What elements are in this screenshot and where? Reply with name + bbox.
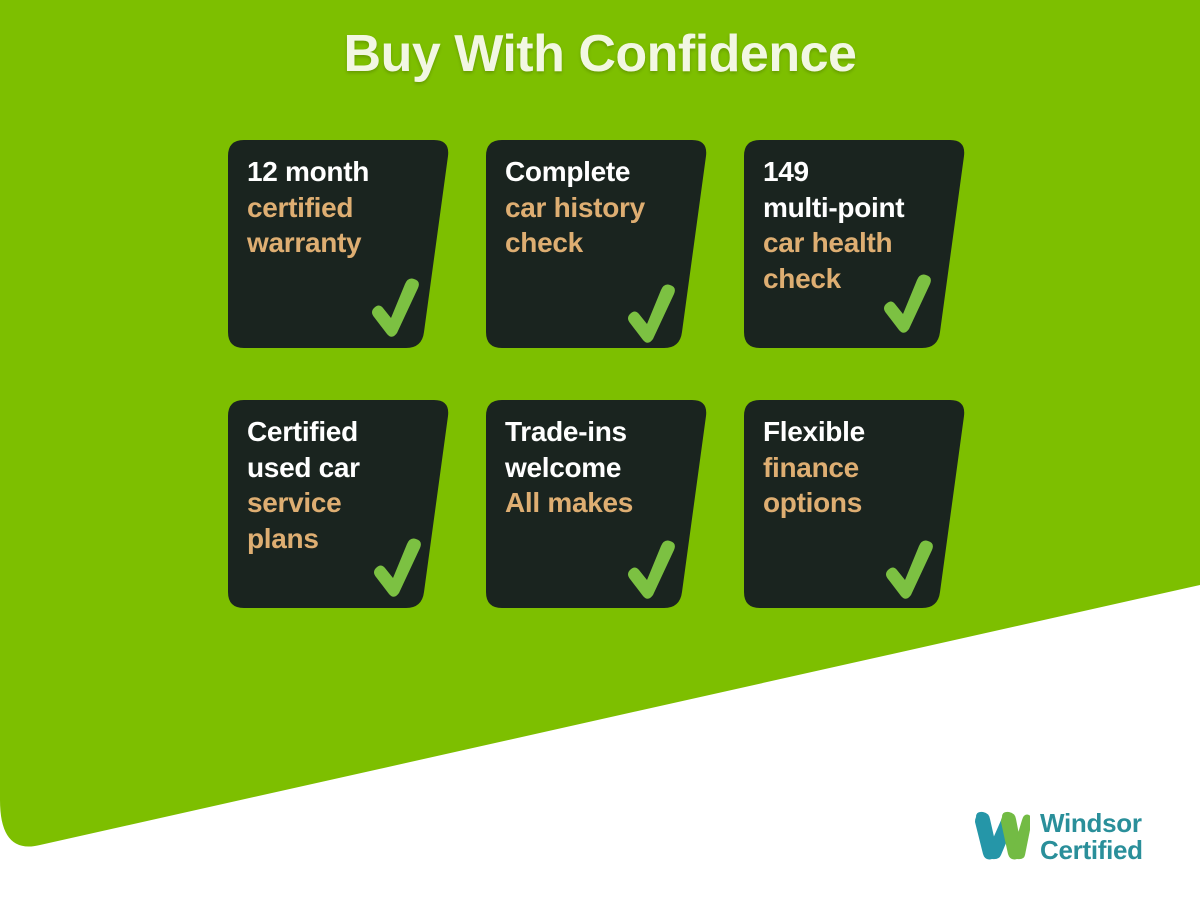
card-line-white: multi-point	[763, 190, 943, 226]
card-line-tan: car health	[763, 225, 943, 261]
card-line-tan: certified	[247, 190, 427, 226]
card-line-white: Trade-ins	[505, 414, 685, 450]
card-line-white: used car	[247, 450, 427, 486]
card-text: Complete car history check	[505, 154, 685, 261]
benefit-card[interactable]: Complete car history check	[486, 140, 708, 348]
card-line-white: welcome	[505, 450, 685, 486]
check-mark-icon	[880, 274, 934, 336]
windsor-w-icon	[972, 811, 1030, 863]
benefit-card[interactable]: Certified used car service plans	[228, 400, 450, 608]
check-mark-icon	[370, 538, 424, 600]
card-line-white: Complete	[505, 154, 685, 190]
logo-line-1: Windsor	[1040, 810, 1143, 837]
card-line-tan: service	[247, 485, 427, 521]
card-line-white: 12 month	[247, 154, 427, 190]
check-mark-icon	[624, 284, 678, 346]
promo-banner: Buy With Confidence 12 month certified w…	[0, 0, 1200, 900]
card-line-white: 149	[763, 154, 943, 190]
card-line-white: Flexible	[763, 414, 943, 450]
card-text: Certified used car service plans	[247, 414, 427, 556]
check-mark-icon	[368, 278, 422, 340]
benefit-card[interactable]: 12 month certified warranty	[228, 140, 450, 348]
card-line-white: Certified	[247, 414, 427, 450]
logo-wordmark: Windsor Certified	[1040, 810, 1143, 865]
benefit-card[interactable]: 149 multi-point car health check	[744, 140, 966, 348]
card-line-tan: car history	[505, 190, 685, 226]
check-mark-icon	[882, 540, 936, 602]
benefit-card[interactable]: Flexible finance options	[744, 400, 966, 608]
check-mark-icon	[624, 540, 678, 602]
card-text: 12 month certified warranty	[247, 154, 427, 261]
page-title: Buy With Confidence	[0, 24, 1200, 84]
card-line-tan: finance	[763, 450, 943, 486]
card-text: Flexible finance options	[763, 414, 943, 521]
card-line-tan: check	[505, 225, 685, 261]
card-line-tan: All makes	[505, 485, 685, 521]
benefit-card[interactable]: Trade-ins welcome All makes	[486, 400, 708, 608]
card-line-tan: warranty	[247, 225, 427, 261]
card-text: Trade-ins welcome All makes	[505, 414, 685, 521]
logo-line-2: Certified	[1040, 837, 1143, 864]
benefit-card-grid: 12 month certified warranty Complete car…	[228, 140, 988, 610]
card-line-tan: options	[763, 485, 943, 521]
windsor-certified-logo[interactable]: Windsor Certified	[972, 810, 1143, 865]
